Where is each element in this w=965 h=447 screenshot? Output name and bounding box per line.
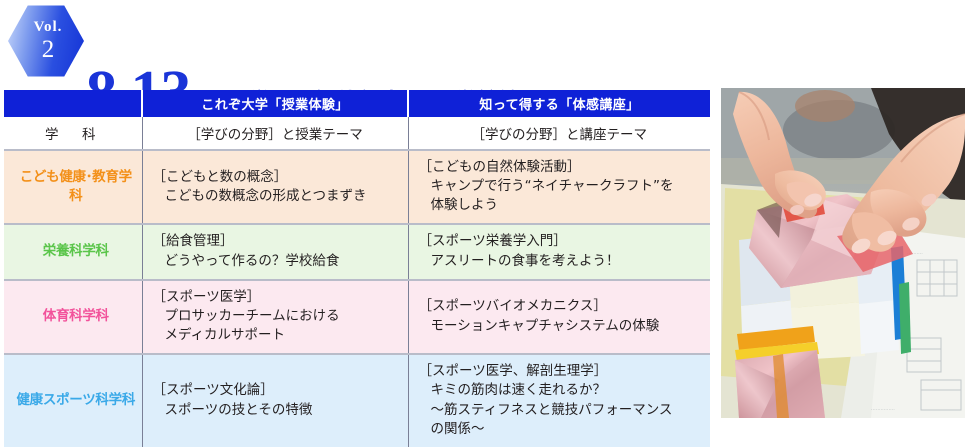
header-lecture-experience: 知って得する「体感講座」: [408, 90, 710, 117]
subheader-department: 学 科: [4, 117, 142, 150]
theme-detail: プロサッカーチームにおける: [153, 307, 404, 326]
page-header: Vol. 2 8.13 thu 学びの解体新書 〜至学館編〜: [0, 0, 965, 86]
theme-detail: キミの筋肉は速く走れるか？: [419, 381, 707, 400]
university-theme-cell: ［こどもと数の概念］ こどもの数概念の形成とつまずき: [142, 150, 408, 224]
theme-detail: こどもの数概念の形成とつまずき: [153, 187, 404, 206]
date-heading: 8.13 thu 学びの解体新書 〜至学館編〜: [86, 0, 542, 80]
activity-photo: .......... ......... ............... 8: [721, 88, 965, 418]
theme-field: ［こどもと数の概念］: [153, 168, 404, 187]
theme-field: ［スポーツ栄養学入門］: [419, 232, 707, 251]
university-theme-cell: ［スポーツ医学］ プロサッカーチームにおける メディカルサポート: [142, 280, 408, 354]
theme-field: ［スポーツ文化論］: [153, 381, 404, 400]
theme-detail: キャンプで行う“ネイチャークラフト”を: [419, 177, 707, 196]
svg-text:...............: ...............: [871, 406, 895, 412]
university-theme-cell: ［給食管理］ どうやって作るの？学校給食: [142, 224, 408, 279]
department-name: 体育科学科: [4, 280, 142, 354]
university-theme-cell: ［スポーツ文化論］ スポーツの技とその特徴: [142, 354, 408, 447]
table-sub-header-row: 学 科 ［学びの分野］と授業テーマ ［学びの分野］と講座テーマ: [4, 117, 710, 150]
header-university-experience: これぞ大学「授業体験」: [142, 90, 408, 117]
department-name: 栄養科学科: [4, 224, 142, 279]
schedule-table-container: これぞ大学「授業体験」 知って得する「体感講座」 学 科 ［学びの分野］と授業テ…: [4, 90, 710, 415]
table-top-header-row: これぞ大学「授業体験」 知って得する「体感講座」: [4, 90, 710, 117]
theme-detail: 〜筋スティフネスと競技パフォーマンス: [419, 401, 707, 420]
theme-detail: スポーツの技とその特徴: [153, 401, 404, 420]
theme-detail: モーションキャプチャシステムの体験: [419, 317, 707, 336]
volume-number: 2: [42, 37, 55, 62]
department-name: こども健康･教育学科: [4, 150, 142, 224]
header-blank-cell: [4, 90, 142, 117]
theme-detail: アスリートの食事を考えよう！: [419, 252, 707, 271]
lecture-theme-cell: ［こどもの自然体験活動］ キャンプで行う“ネイチャークラフト”を 体験しよう: [408, 150, 710, 224]
table-row: 栄養科学科 ［給食管理］ どうやって作るの？学校給食 ［スポーツ栄養学入門］ ア…: [4, 224, 710, 279]
theme-detail: メディカルサポート: [153, 326, 404, 345]
theme-field: ［給食管理］: [153, 232, 404, 251]
theme-detail: の関係〜: [419, 420, 707, 439]
schedule-table: これぞ大学「授業体験」 知って得する「体感講座」 学 科 ［学びの分野］と授業テ…: [4, 90, 710, 447]
theme-field: ［スポーツ医学、解剖生理学］: [419, 362, 707, 381]
theme-field: ［スポーツ医学］: [153, 288, 404, 307]
table-row: 体育科学科 ［スポーツ医学］ プロサッカーチームにおける メディカルサポート ［…: [4, 280, 710, 354]
department-name: 健康スポーツ科学科: [4, 354, 142, 447]
theme-field: ［スポーツバイオメカニクス］: [419, 297, 707, 316]
volume-label: Vol.: [34, 20, 63, 35]
photo-illustration: .......... ......... ............... 8: [721, 88, 965, 418]
lecture-theme-cell: ［スポーツバイオメカニクス］ モーションキャプチャシステムの体験: [408, 280, 710, 354]
table-row: こども健康･教育学科 ［こどもと数の概念］ こどもの数概念の形成とつまずき ［こ…: [4, 150, 710, 224]
volume-badge: Vol. 2: [8, 4, 84, 78]
theme-detail: どうやって作るの？学校給食: [153, 252, 404, 271]
subheader-university-theme: ［学びの分野］と授業テーマ: [142, 117, 408, 150]
subheader-lecture-theme: ［学びの分野］と講座テーマ: [408, 117, 710, 150]
theme-field: ［こどもの自然体験活動］: [419, 158, 707, 177]
lecture-theme-cell: ［スポーツ栄養学入門］ アスリートの食事を考えよう！: [408, 224, 710, 279]
lecture-theme-cell: ［スポーツ医学、解剖生理学］ キミの筋肉は速く走れるか？ 〜筋スティフネスと競技…: [408, 354, 710, 447]
theme-detail: 体験しよう: [419, 196, 707, 215]
table-row: 健康スポーツ科学科 ［スポーツ文化論］ スポーツの技とその特徴 ［スポーツ医学、…: [4, 354, 710, 447]
